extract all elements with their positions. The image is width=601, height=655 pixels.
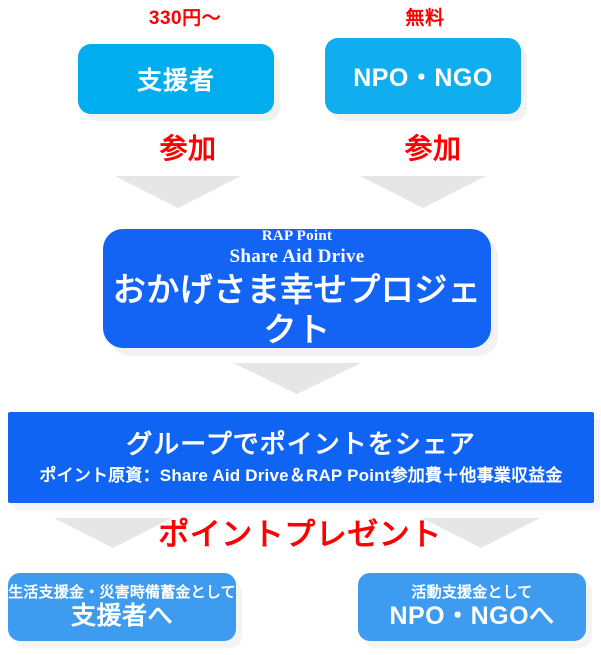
to-npo-box[interactable]: 活動支援金として NPO・NGOへ: [358, 573, 586, 641]
supporter-price-label: 330円〜: [120, 8, 250, 30]
supporter-join-label: 参加: [118, 133, 258, 165]
supporter-box[interactable]: 支援者: [78, 44, 274, 114]
to-supporter-sub-label: 生活支援金・災害時備蓄金として: [8, 583, 236, 602]
npo-box[interactable]: NPO・NGO: [325, 38, 521, 114]
project-subtitle-share-aid-drive: Share Aid Drive: [229, 246, 364, 268]
down-arrow-icon-npo: [360, 176, 486, 208]
to-supporter-main-label: 支援者へ: [71, 602, 173, 631]
point-present-label: ポイントプレゼント: [150, 517, 450, 553]
flow-diagram: 330円〜 無料 支援者 NPO・NGO 参加 参加 RAP Point Sha…: [0, 0, 601, 655]
npo-join-label: 参加: [363, 133, 503, 165]
to-npo-main-label: NPO・NGOへ: [389, 602, 554, 631]
project-box[interactable]: RAP Point Share Aid Drive おかげさま幸せプロジェクト: [103, 229, 491, 348]
share-bar-subtitle: ポイント原資：Share Aid Drive＆RAP Point参加費＋他事業収…: [39, 464, 562, 488]
project-subtitle-rap-point: RAP Point: [262, 228, 333, 245]
down-arrow-icon-supporter: [115, 176, 241, 208]
share-points-bar: グループでポイントをシェア ポイント原資：Share Aid Drive＆RAP…: [8, 412, 594, 503]
npo-price-label: 無料: [360, 8, 490, 30]
project-title: おかげさま幸せプロジェクト: [103, 270, 491, 350]
to-npo-sub-label: 活動支援金として: [411, 583, 532, 602]
share-bar-title: グループでポイントをシェア: [126, 428, 475, 460]
to-supporter-box[interactable]: 生活支援金・災害時備蓄金として 支援者へ: [8, 573, 236, 641]
down-arrow-icon-project: [233, 363, 361, 394]
supporter-box-label: 支援者: [137, 61, 215, 97]
npo-box-label: NPO・NGO: [353, 58, 493, 94]
